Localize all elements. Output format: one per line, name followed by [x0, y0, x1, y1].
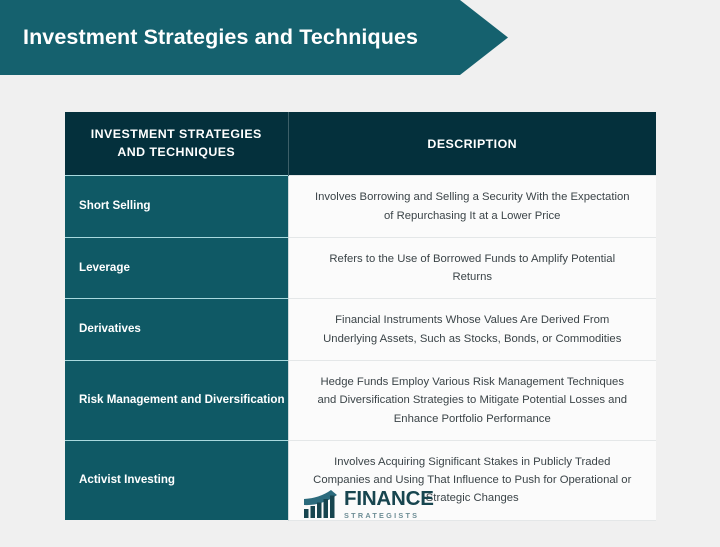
- cell-term: Activist Investing: [65, 440, 288, 520]
- column-header-description: DESCRIPTION: [288, 112, 656, 176]
- finance-strategists-logo: FINANCE STRATEGISTS: [303, 489, 434, 519]
- cell-description: Involves Borrowing and Selling a Securit…: [288, 176, 656, 238]
- column-header-term: INVESTMENT STRATEGIES AND TECHNIQUES: [65, 112, 288, 176]
- cell-description: Financial Instruments Whose Values Are D…: [288, 299, 656, 361]
- table-body: Short SellingInvolves Borrowing and Sell…: [65, 176, 656, 521]
- logo-primary-text: FINANCE: [344, 489, 434, 510]
- logo-wordmark: FINANCE STRATEGISTS: [344, 489, 434, 519]
- table-header-row: INVESTMENT STRATEGIES AND TECHNIQUES DES…: [65, 112, 656, 176]
- logo-secondary-text: STRATEGISTS: [344, 512, 434, 519]
- investment-strategies-table: INVESTMENT STRATEGIES AND TECHNIQUES DES…: [65, 112, 656, 521]
- bar-chart-arc-logo-icon: [303, 489, 339, 519]
- cell-term: Risk Management and Diversification: [65, 361, 288, 441]
- page-header-banner: Investment Strategies and Techniques: [0, 0, 508, 75]
- table-row: DerivativesFinancial Instruments Whose V…: [65, 299, 656, 361]
- table-row: Short SellingInvolves Borrowing and Sell…: [65, 176, 656, 238]
- table-row: LeverageRefers to the Use of Borrowed Fu…: [65, 237, 656, 299]
- cell-description: Refers to the Use of Borrowed Funds to A…: [288, 237, 656, 299]
- cell-term: Leverage: [65, 237, 288, 299]
- table-row: Risk Management and DiversificationHedge…: [65, 361, 656, 441]
- table-header: INVESTMENT STRATEGIES AND TECHNIQUES DES…: [65, 112, 656, 176]
- cell-term: Derivatives: [65, 299, 288, 361]
- cell-term: Short Selling: [65, 176, 288, 238]
- page-title: Investment Strategies and Techniques: [23, 25, 418, 50]
- cell-description: Hedge Funds Employ Various Risk Manageme…: [288, 361, 656, 441]
